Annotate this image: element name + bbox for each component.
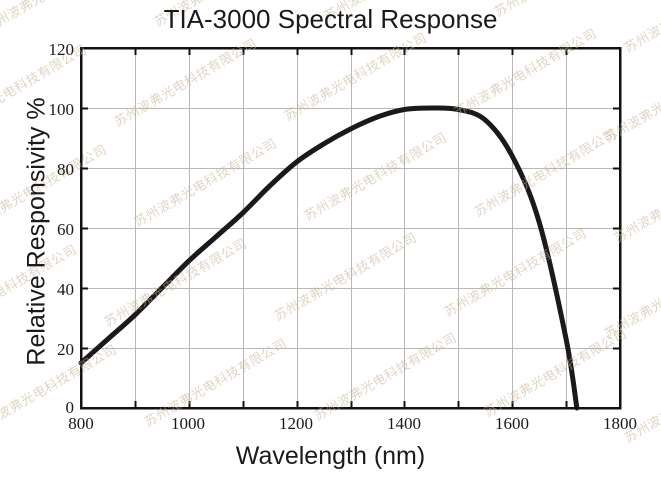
x-tick-label: 800 [46,414,116,434]
x-tick-label: 1800 [585,414,655,434]
spectral-response-chart: 苏州波弗光电科技有限公司 苏州波弗光电科技有限公司 苏州波弗光电科技有限公司 苏… [0,0,661,478]
chart-title: TIA-3000 Spectral Response [0,4,661,35]
x-tick-label: 1400 [369,414,439,434]
x-tick-label: 1000 [153,414,223,434]
y-axis-title: Relative Responsivity % [23,32,52,432]
plot-area [0,0,661,478]
x-tick-label: 1200 [261,414,331,434]
x-axis-title: Wavelength (nm) [0,442,661,471]
x-tick-label: 1600 [477,414,547,434]
